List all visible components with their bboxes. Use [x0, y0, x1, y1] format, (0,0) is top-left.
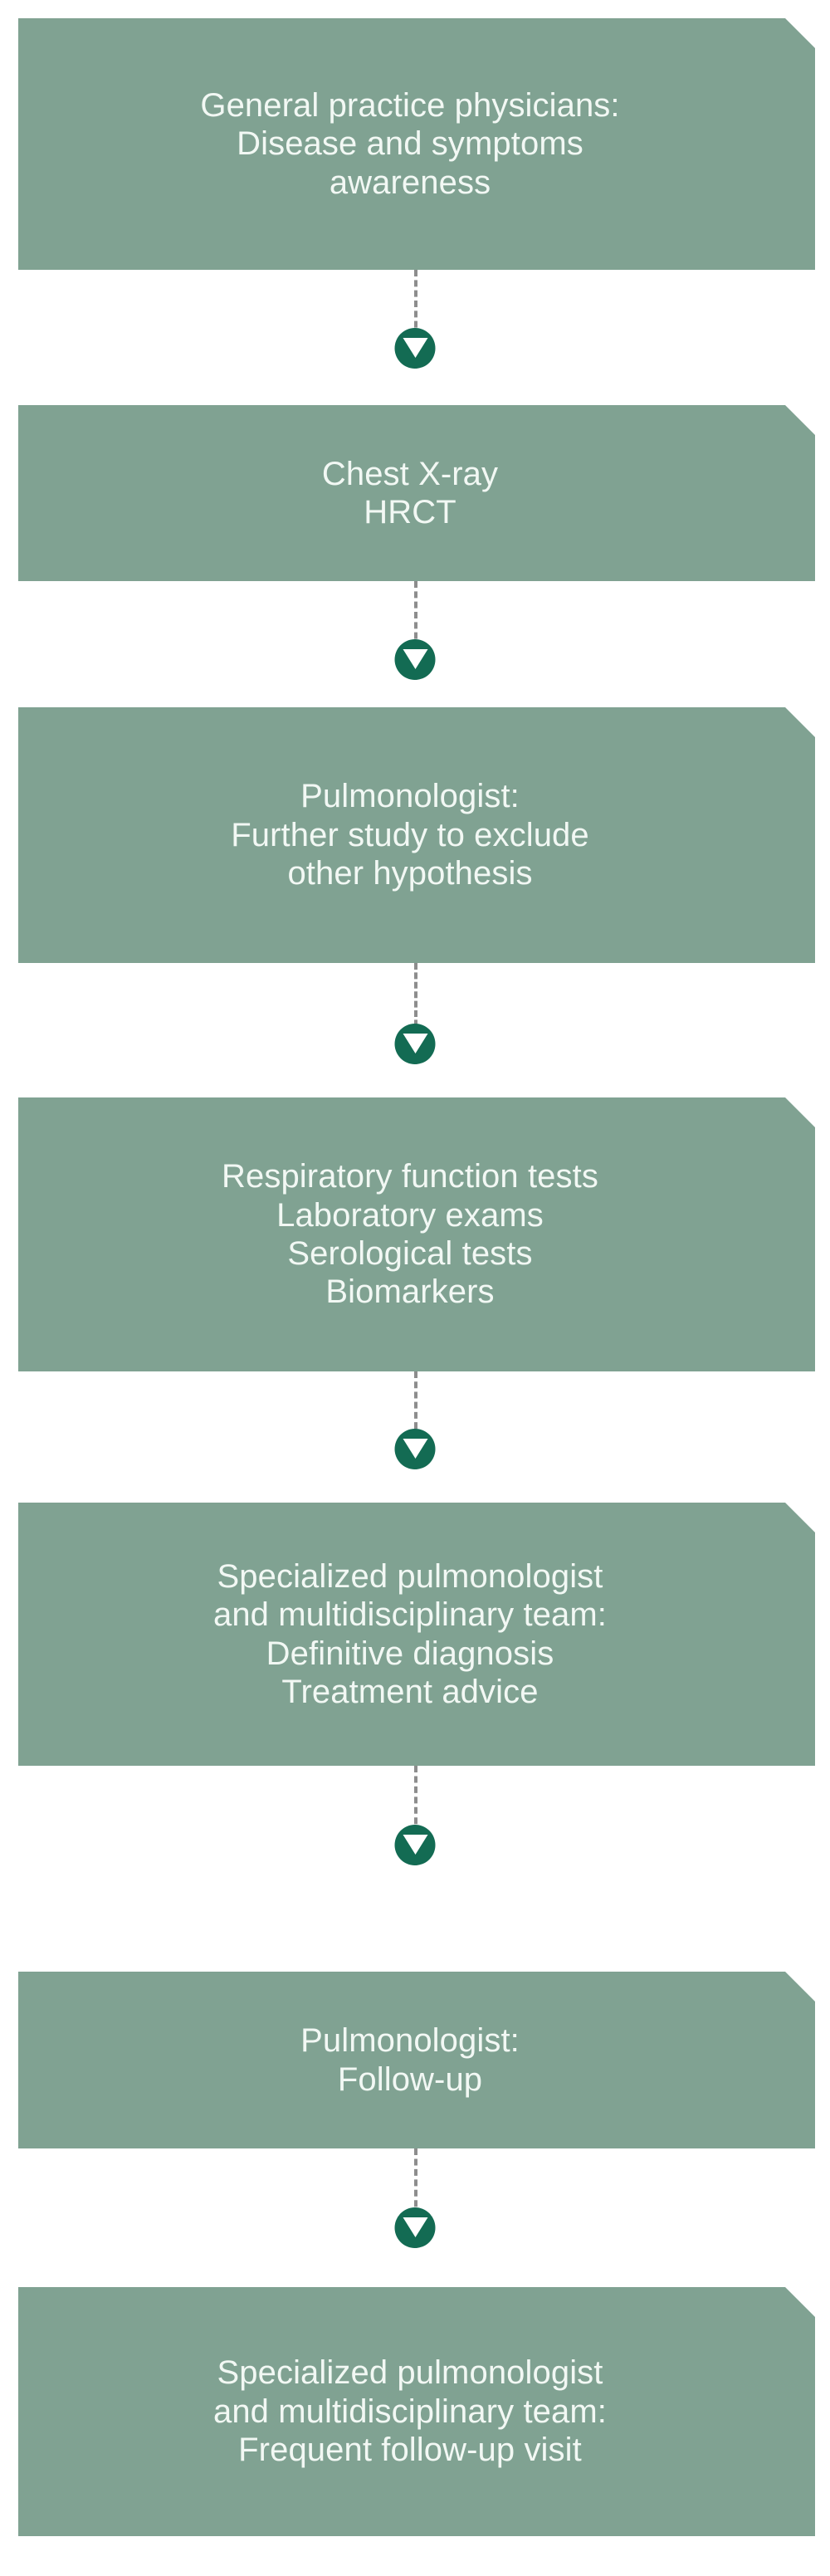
flow-node-6[interactable]: Pulmonologist: Follow-up — [18, 1972, 815, 2148]
flow-node-1-line-1: General practice physicians: — [200, 86, 619, 125]
flow-node-4-line-1: Respiratory function tests — [222, 1157, 598, 1195]
flow-node-5-line-1: Specialized pulmonologist — [217, 1557, 603, 1596]
flow-node-6-line-1: Pulmonologist: — [300, 2021, 520, 2060]
flow-node-3[interactable]: Pulmonologist: Further study to exclude … — [18, 707, 815, 963]
flow-node-5-line-3: Definitive diagnosis — [266, 1635, 554, 1673]
flow-node-5-line-2: and multidisciplinary team: — [213, 1596, 607, 1634]
flow-node-5-line-4: Treatment advice — [281, 1673, 538, 1711]
flow-node-7[interactable]: Specialized pulmonologist and multidisci… — [18, 2287, 815, 2536]
flow-node-6-line-2: Follow-up — [338, 2060, 482, 2099]
down-triangle-icon — [395, 2207, 436, 2248]
flow-node-2-line-1: Chest X-ray — [322, 455, 498, 493]
flow-node-4-line-3: Serological tests — [287, 1234, 532, 1273]
flow-node-5[interactable]: Specialized pulmonologist and multidisci… — [18, 1503, 815, 1766]
down-triangle-icon — [395, 1429, 436, 1469]
flow-connector-5 — [0, 1766, 830, 1865]
connector-dashed-line — [414, 963, 417, 1064]
flowchart-canvas: General practice physicians: Disease and… — [0, 0, 830, 2576]
flow-connector-4 — [0, 1371, 830, 1469]
connector-dashed-line — [414, 270, 417, 369]
connector-dashed-line — [414, 1766, 417, 1865]
flow-node-4-line-2: Laboratory exams — [276, 1196, 544, 1234]
down-triangle-icon — [395, 639, 436, 680]
down-triangle-icon — [395, 1024, 436, 1064]
flow-node-1-line-2: Disease and symptoms — [237, 125, 583, 163]
flow-connector-3 — [0, 963, 830, 1064]
flow-node-3-line-1: Pulmonologist: — [300, 777, 520, 815]
flow-node-4-line-4: Biomarkers — [325, 1273, 494, 1311]
down-triangle-icon — [395, 1825, 436, 1865]
flow-node-4[interactable]: Respiratory function tests Laboratory ex… — [18, 1097, 815, 1371]
connector-dashed-line — [414, 581, 417, 680]
flow-connector-1 — [0, 270, 830, 369]
flow-node-7-line-1: Specialized pulmonologist — [217, 2354, 603, 2392]
flow-node-3-line-2: Further study to exclude — [231, 816, 589, 854]
connector-dashed-line — [414, 1371, 417, 1469]
flow-node-2[interactable]: Chest X-ray HRCT — [18, 405, 815, 581]
flow-connector-2 — [0, 581, 830, 680]
flow-node-2-line-2: HRCT — [364, 493, 456, 531]
connector-dashed-line — [414, 2148, 417, 2248]
down-triangle-icon — [395, 328, 436, 369]
flow-node-1[interactable]: General practice physicians: Disease and… — [18, 18, 815, 270]
flow-node-7-line-2: and multidisciplinary team: — [213, 2393, 607, 2431]
flow-connector-6 — [0, 2148, 830, 2248]
flow-node-3-line-3: other hypothesis — [287, 854, 532, 892]
flow-node-7-line-3: Frequent follow-up visit — [238, 2431, 582, 2469]
flow-node-1-line-3: awareness — [330, 164, 491, 202]
